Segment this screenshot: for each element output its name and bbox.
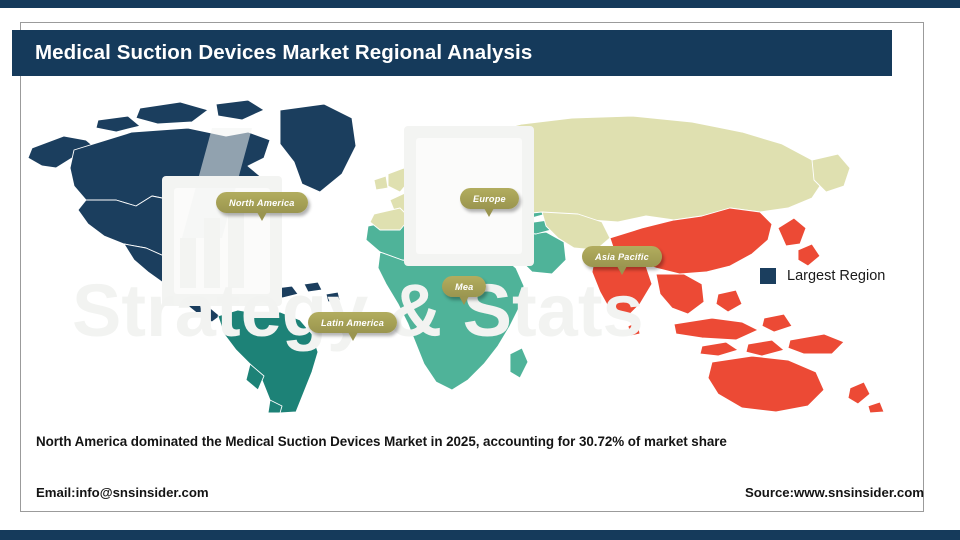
- legend: Largest Region: [760, 268, 885, 284]
- legend-label-largest-region: Largest Region: [787, 268, 885, 284]
- summary-text: North America dominated the Medical Suct…: [36, 434, 876, 449]
- map-label-asia-pacific[interactable]: Asia Pacific: [582, 246, 662, 267]
- map-label-europe-text: Europe: [473, 194, 506, 204]
- map-label-north-america-text: North America: [229, 198, 295, 208]
- world-map: Strategy & Stats: [12, 88, 892, 413]
- map-label-latin-america[interactable]: Latin America: [308, 312, 397, 333]
- region-asia-pacific: [592, 208, 884, 413]
- top-accent-bar: [0, 0, 960, 8]
- world-map-svg: [12, 88, 892, 413]
- region-latin-america: [218, 310, 318, 413]
- title-bar: Medical Suction Devices Market Regional …: [12, 30, 892, 76]
- legend-swatch-largest-region: [760, 268, 776, 284]
- map-label-mea[interactable]: Mea: [442, 276, 486, 297]
- map-label-asia-pacific-text: Asia Pacific: [595, 252, 649, 262]
- map-label-mea-text: Mea: [455, 282, 473, 292]
- footer-source[interactable]: Source:www.snsinsider.com: [745, 485, 924, 500]
- bottom-accent-bar: [0, 530, 960, 540]
- map-label-europe[interactable]: Europe: [460, 188, 519, 209]
- map-label-latin-america-text: Latin America: [321, 318, 384, 328]
- footer-email[interactable]: Email:info@snsinsider.com: [36, 485, 209, 500]
- map-label-north-america[interactable]: North America: [216, 192, 308, 213]
- region-europe: [370, 116, 850, 250]
- slide-root: Medical Suction Devices Market Regional …: [0, 0, 960, 540]
- region-north-america: [28, 100, 356, 322]
- page-title: Medical Suction Devices Market Regional …: [12, 41, 532, 65]
